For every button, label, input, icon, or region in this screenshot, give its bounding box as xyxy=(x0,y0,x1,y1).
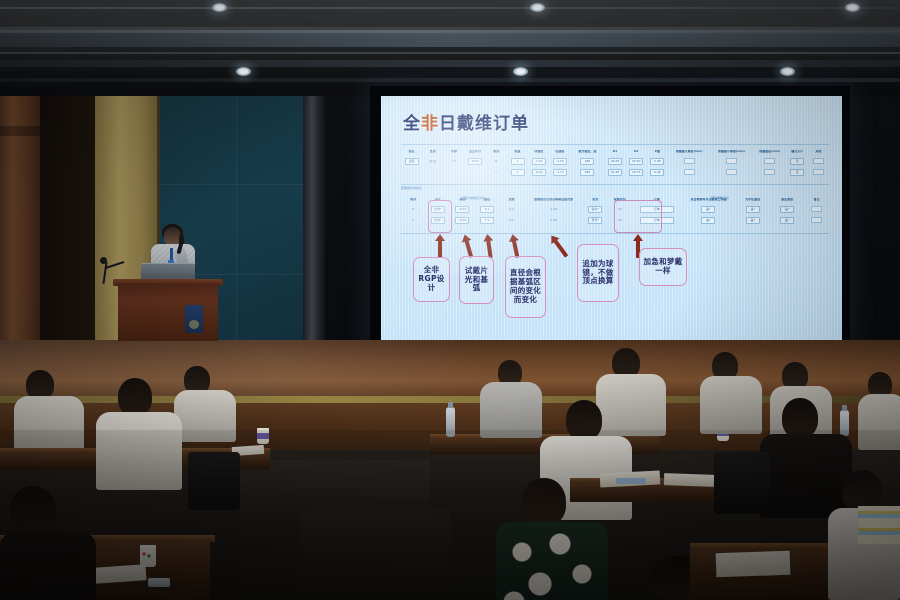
smartphone xyxy=(148,578,170,587)
table-cell-value: 13 xyxy=(443,160,464,163)
table-header-cell: 度数 xyxy=(499,198,524,201)
table-header-cell: 角膜最大厚度(mm) xyxy=(668,150,710,153)
table-header-cell: 戴镜验光及顶点换算后屈光度 xyxy=(524,198,583,201)
table-cell-value: 是* xyxy=(746,206,760,213)
table-cell-value: 1 xyxy=(511,169,525,176)
arrow-up-icon xyxy=(435,234,445,258)
podium xyxy=(118,283,218,341)
ceiling-downlight xyxy=(845,3,860,12)
table-cell-value: 是* xyxy=(780,217,794,224)
table-header-cell: 散光轴位、度 xyxy=(571,150,605,153)
table-header-cell: 性别 xyxy=(422,150,443,153)
table-cell-value: 1.00 xyxy=(524,219,583,222)
table-cell-value: L xyxy=(401,219,426,222)
table-cell-value: -7.00 xyxy=(532,158,546,165)
ceiling-downlight xyxy=(513,67,528,76)
table-header-cell: 出生年月 xyxy=(465,150,486,153)
table-cell-value: 42.00 xyxy=(608,158,623,165)
table-cell-value: 9.4 xyxy=(499,208,524,211)
highlight-rect-order xyxy=(614,200,662,233)
table-header-cell: 球镜度 xyxy=(528,150,549,153)
table-header-cell: 直径 xyxy=(475,198,500,201)
table-cell-checkbox xyxy=(764,158,775,164)
table-header-cell: 荧光 xyxy=(583,198,608,201)
callout-box-2: 试戴片光和基弧 xyxy=(459,256,494,304)
table-cell-value: 43.50 xyxy=(629,158,644,165)
table-cell-value: 男/女 xyxy=(422,160,443,163)
table-cell-value: R xyxy=(401,208,426,211)
chair xyxy=(188,452,240,510)
table-cell-checkbox xyxy=(684,158,695,164)
arrow-up-icon xyxy=(547,233,570,260)
table-header-cell: 其他 xyxy=(808,150,829,153)
table-cell-value: 是* xyxy=(701,217,715,224)
table-header-cell: 柱镜度 xyxy=(549,150,570,153)
ceiling xyxy=(0,0,900,100)
table-cell-checkbox xyxy=(811,217,822,223)
table-cell-value: 荧光* xyxy=(588,217,602,224)
table-cell-value: R xyxy=(486,160,507,163)
table-header-cell: 弧区宽度 xyxy=(770,198,804,201)
table-header-cell: 年龄 xyxy=(443,150,464,153)
section-label: 配戴者基本信息 xyxy=(401,186,422,190)
table-cell-value: -6.00 xyxy=(532,169,546,176)
table-header-cell: 角膜最小厚度(mm) xyxy=(710,150,752,153)
table-header-cell: 角膜直径(mm) xyxy=(753,150,787,153)
table-cell-value: 1 xyxy=(511,158,525,165)
notebook xyxy=(716,551,791,578)
table-header-cell: 基弧 xyxy=(450,198,475,201)
table-header-cell: 瞳孔大小 xyxy=(787,150,808,153)
table-cell-checkbox xyxy=(726,169,737,175)
table-cell-value: -6.00 xyxy=(455,206,469,213)
table-header-cell: 眼别 xyxy=(486,150,507,153)
open-book xyxy=(664,473,714,487)
slide-title: 全非日戴维订单 xyxy=(403,109,529,134)
table-cell-value: 患者 xyxy=(405,158,419,165)
table-header-cell: E值 xyxy=(647,150,668,153)
table-cell-checkbox xyxy=(813,158,824,164)
table-cell-checkbox xyxy=(811,206,822,212)
table-cell-value: 2005 xyxy=(468,158,482,165)
arrow-up-icon xyxy=(482,233,495,258)
table-cell-value: -6.00 xyxy=(455,217,469,224)
chair xyxy=(714,452,770,514)
table-header-cell: 备注 xyxy=(804,198,829,201)
callout-box-3: 直径会根据基弧区间的变化而变化 xyxy=(505,256,546,318)
slide-title-part-3: 日戴维订单 xyxy=(439,114,529,134)
table-row: 患者 男/女 13 2005 R 1 -7.00 -1.50 180 42.00… xyxy=(401,156,829,167)
slide-table-top: 姓名 性别 年龄 出生年月 眼别 数量 球镜度 柱镜度 散光轴位、度 K1 K2… xyxy=(401,146,829,178)
slide-title-part-2: 非 xyxy=(421,114,439,134)
table-header-cell: 姓名 xyxy=(401,150,422,153)
water-bottle xyxy=(446,407,455,437)
table-cell-checkbox xyxy=(684,169,695,175)
callout-box-1: 全非RGP设计 xyxy=(413,257,450,302)
table-cell-value: -1.75 xyxy=(553,169,567,176)
table-header-cell: 数量 xyxy=(507,150,528,153)
table-row: L 1 -6.00 -1.75 180 42.25 43.75 0.46 无 xyxy=(401,167,829,178)
table-header-cell: 眼别 xyxy=(401,198,426,201)
table-cell-value: 7.5 xyxy=(480,217,494,224)
table-cell-value: 180 xyxy=(580,158,594,165)
podium-emblem xyxy=(185,305,203,333)
lecture-hall-scene: 全非日戴维订单 姓名 性别 年龄 出生年月 眼别 数量 球镜度 柱镜度 散光轴位… xyxy=(0,0,900,600)
callout-box-5: 加急和梦戴一样 xyxy=(639,248,687,286)
table-cell-value: 42.25 xyxy=(608,169,623,176)
table-cell-value: 43.75 xyxy=(629,169,644,176)
arrow-up-icon xyxy=(508,233,523,259)
table-cell-value: 是* xyxy=(780,206,794,213)
table-cell-value: 无 xyxy=(790,158,804,165)
table-header-cell: 是否需要再次试戴或上传图 xyxy=(681,198,735,201)
table-header-cell: K2 xyxy=(626,150,647,153)
table-cell-value: 9.0 xyxy=(499,219,524,222)
table-cell-value: 180 xyxy=(580,169,594,176)
table-cell-checkbox xyxy=(726,158,737,164)
table-cell-value: 0.46 xyxy=(650,169,664,176)
slide-title-part-1: 全 xyxy=(403,114,421,134)
callout-box-4: 追加为球镜，不做顶点换算 xyxy=(577,244,619,302)
color-coded-notebook xyxy=(858,506,900,544)
table-cell-value: 是* xyxy=(746,217,760,224)
ceiling-downlight xyxy=(212,3,227,12)
table-cell-checkbox xyxy=(813,169,824,175)
table-cell-value: L xyxy=(486,171,507,174)
table-cell-value: 镜片* xyxy=(588,206,602,213)
ceiling-downlight xyxy=(780,67,795,76)
water-bottle xyxy=(840,410,849,436)
paper-cup xyxy=(257,428,269,444)
table-cell-checkbox xyxy=(764,169,775,175)
table-header-cell: K1 xyxy=(604,150,625,153)
table-cell-value: 8.1 xyxy=(480,206,494,213)
table-header-cell: 光学区直径 xyxy=(736,198,770,201)
table-cell-value: 0.45 xyxy=(650,158,664,165)
table-header-row: 姓名 性别 年龄 出生年月 眼别 数量 球镜度 柱镜度 散光轴位、度 K1 K2… xyxy=(401,146,829,156)
highlight-rect-design xyxy=(428,200,452,233)
table-cell-value: -1.00 xyxy=(524,208,583,211)
ceiling-downlight xyxy=(530,3,545,12)
table-cell-value: 是* xyxy=(701,206,715,213)
ceiling-downlight xyxy=(236,67,251,76)
table-cell-value: -1.50 xyxy=(553,158,567,165)
table-cell-value: 无 xyxy=(790,169,804,176)
